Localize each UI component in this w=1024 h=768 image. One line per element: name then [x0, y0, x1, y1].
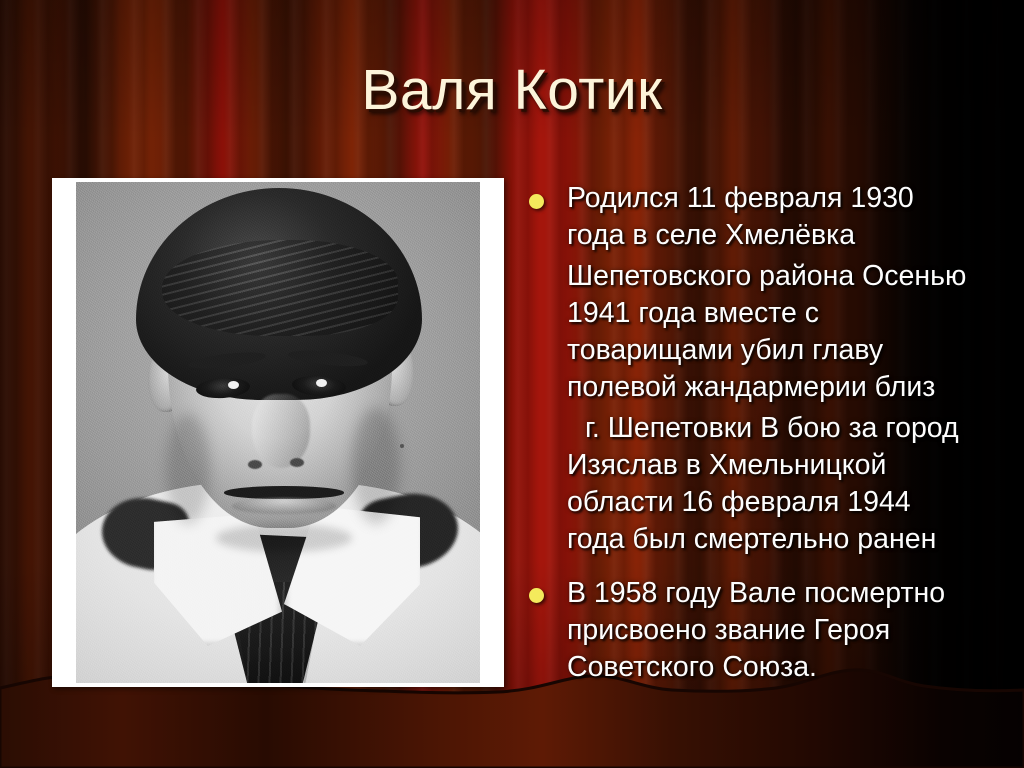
presentation-slide: Валя Котик — [0, 0, 1024, 768]
bullet-1-paragraph-3: г. Шепетовки В бою за город Изяслав в Хм… — [567, 410, 972, 558]
bullet-1-paragraph-2: Шепетовского района Осенью 1941 года вме… — [567, 258, 972, 406]
bullet-2-paragraph-1: В 1958 году Вале посмертно присвоено зва… — [567, 575, 972, 686]
bullet-1-paragraph-1: Родился 11 февраля 1930 года в селе Хмел… — [567, 180, 972, 254]
bullet-item-1: Родился 11 февраля 1930 года в селе Хмел… — [524, 180, 972, 558]
bullet-dot-icon — [529, 588, 544, 603]
portrait-photo-image — [76, 182, 480, 683]
portrait-photo — [52, 178, 504, 687]
bullet-item-2: В 1958 году Вале посмертно присвоено зва… — [524, 575, 972, 686]
photo-grain-overlay — [76, 182, 480, 683]
bullet-dot-icon — [529, 194, 544, 209]
slide-body-text: Родился 11 февраля 1930 года в селе Хмел… — [524, 180, 972, 686]
slide-title: Валя Котик — [0, 56, 1024, 124]
